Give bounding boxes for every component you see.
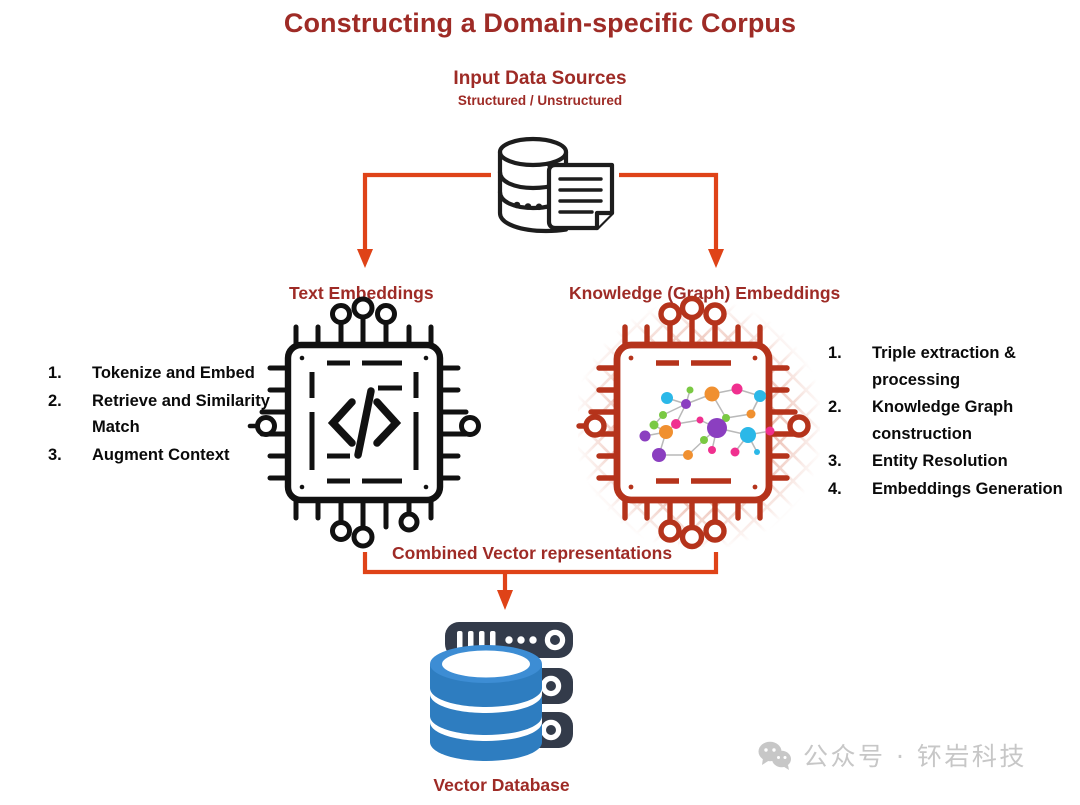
graph-node — [747, 410, 756, 419]
graph-node — [683, 450, 693, 460]
graph-node — [659, 411, 667, 419]
graph-node — [697, 417, 704, 424]
graph-node — [766, 427, 775, 436]
graph-node — [754, 390, 766, 402]
graph-node — [708, 446, 716, 454]
database-document-icon — [500, 139, 612, 231]
knowledge-graph-chip-icon — [579, 299, 808, 547]
graph-node — [652, 448, 666, 462]
code-chip-icon — [250, 299, 479, 546]
vector-database-icon — [430, 622, 573, 761]
graph-node — [707, 418, 727, 438]
merge-label: Combined Vector representations — [386, 543, 678, 564]
diagram-canvas: Constructing a Domain-specific Corpus In… — [0, 0, 1080, 805]
graph-node — [659, 425, 673, 439]
graph-node — [754, 449, 760, 455]
graph-node — [740, 427, 756, 443]
graph-node — [671, 419, 681, 429]
graph-node — [640, 431, 651, 442]
graph-node — [681, 399, 691, 409]
graph-node — [705, 387, 720, 402]
graph-node — [731, 448, 740, 457]
graph-node — [732, 384, 743, 395]
graph-node — [661, 392, 673, 404]
graph-node — [650, 421, 659, 430]
graph-node — [687, 387, 694, 394]
icon-layer — [0, 0, 1080, 805]
graph-node — [700, 436, 708, 444]
